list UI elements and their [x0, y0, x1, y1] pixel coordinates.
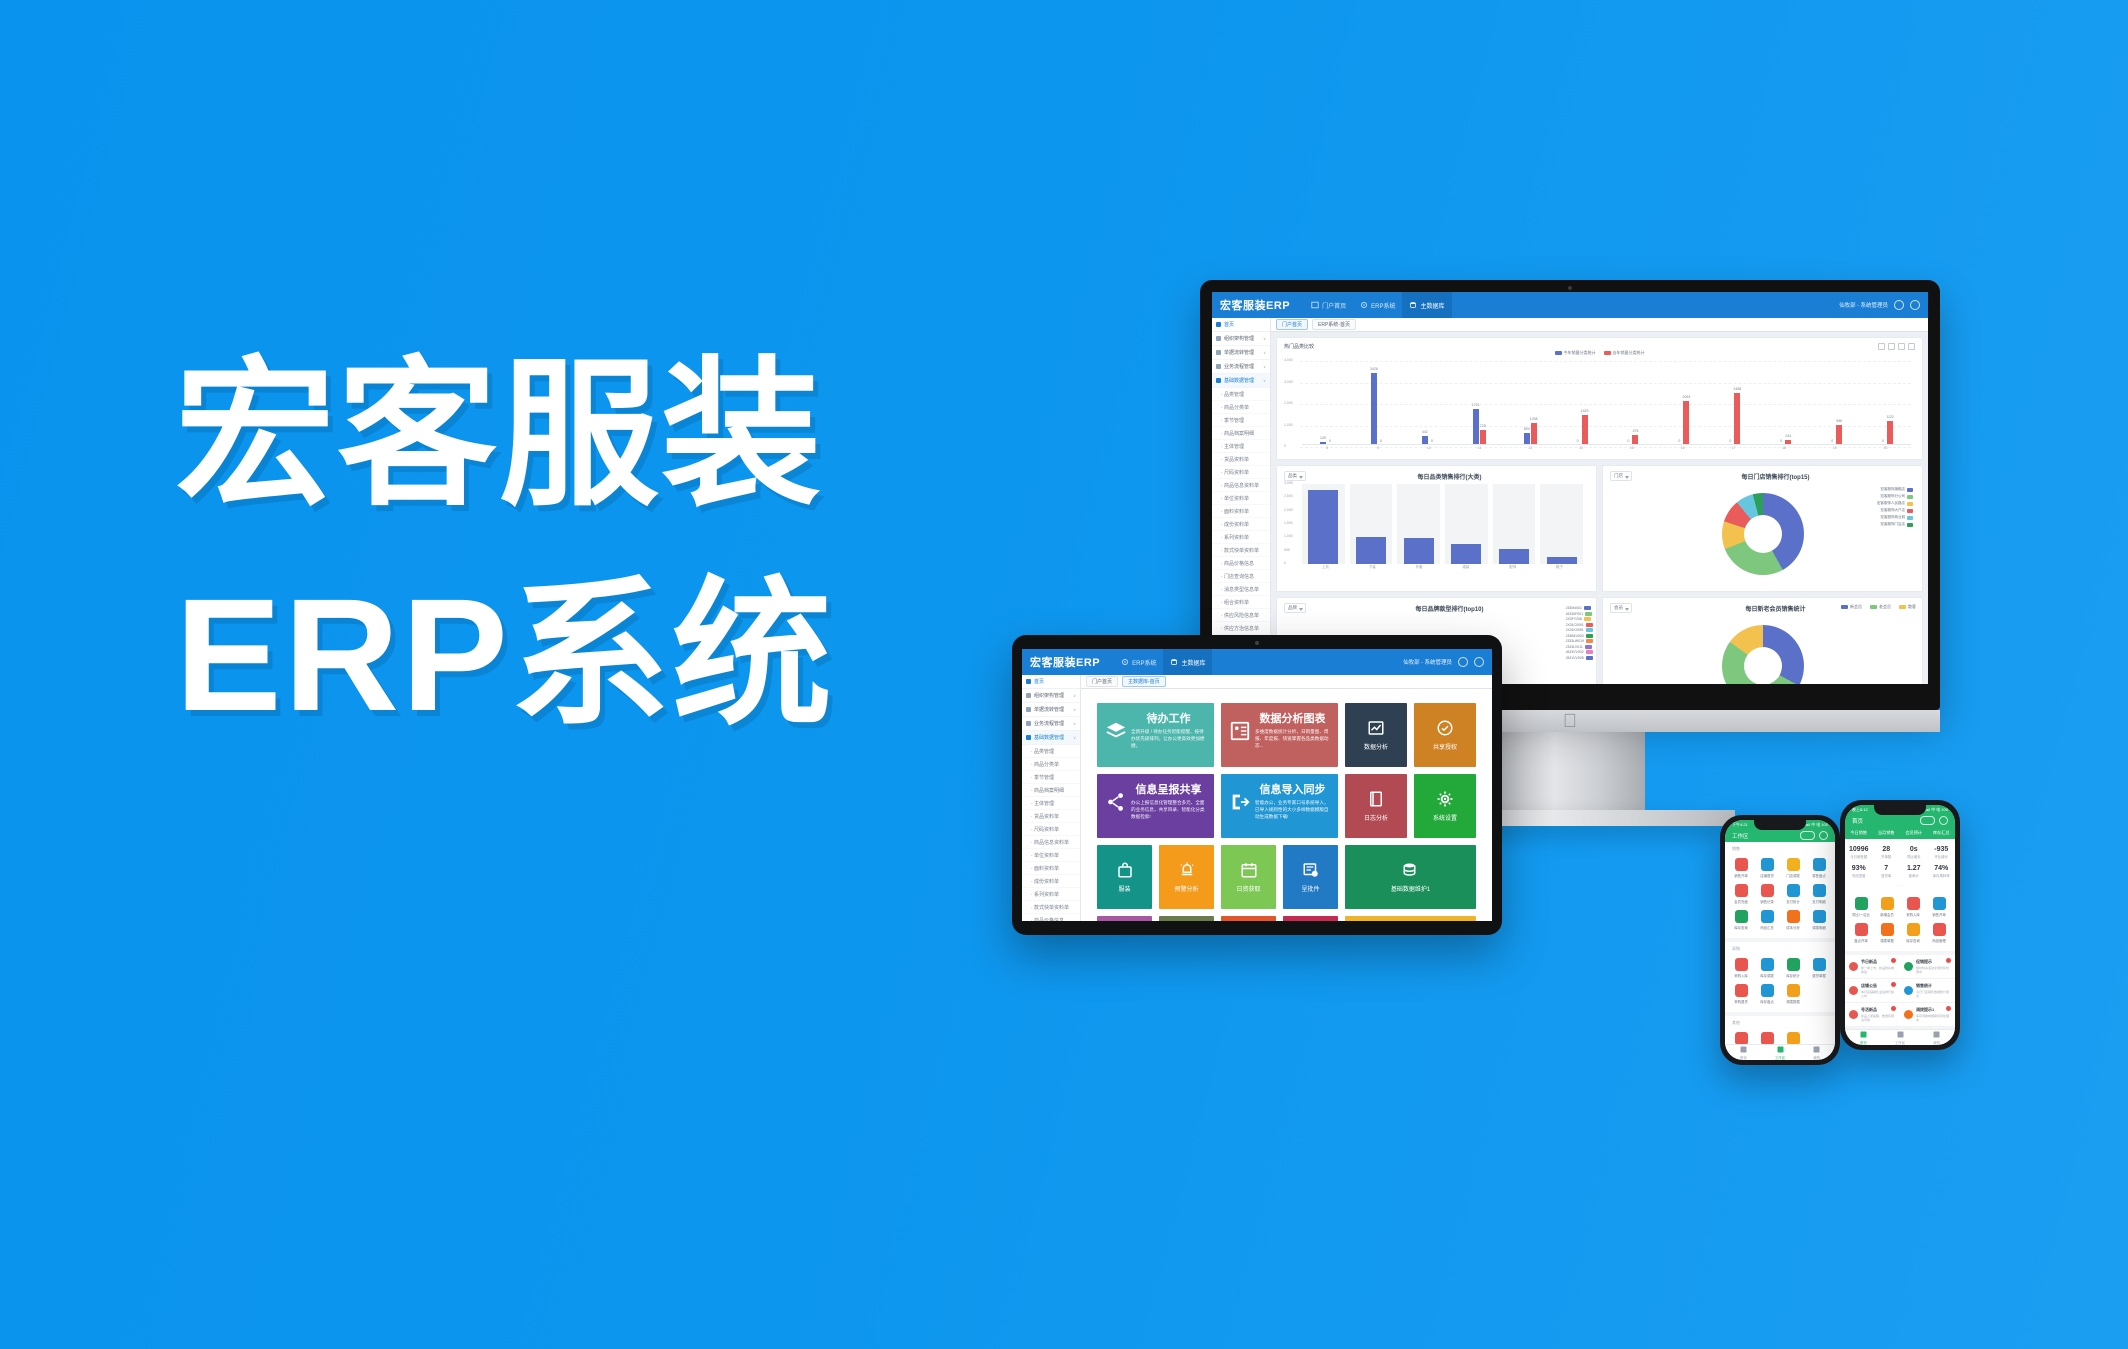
tile-title: 共享授权 [1433, 742, 1457, 751]
bar-slot-11: 1721728 [1455, 361, 1504, 445]
section-grid: 销售开单店铺退货门店调拨零售盘点会员充值销售记录支付统计支付明细库存查询商品汇总… [1728, 855, 1832, 933]
gear-icon [1360, 301, 1368, 309]
tablet-sidebar-group-basedata[interactable]: 基础数据管理 ∨ [1022, 731, 1080, 745]
sidebar-item-10[interactable]: · 成份资料单 [1022, 875, 1080, 888]
return-icon [1813, 958, 1826, 971]
sidebar-item-2[interactable]: · 季节管理 [1022, 771, 1080, 784]
tile-row-right-2: 日志分析系统设置 [1345, 774, 1476, 838]
phone-left-body[interactable]: 销售销售开单店铺退货门店调拨零售盘点会员充值销售记录支付统计支付明细库存查询商品… [1725, 842, 1835, 1044]
sidebar-item-list[interactable]: · 品类管理· 商品分类单· 季节管理· 商品档案明细· 主体管理· 货品资料单… [1212, 388, 1270, 674]
desktop-sidebar[interactable]: 首页 组织架构管理 ∨ 单据流转管理 ∨ [1212, 318, 1271, 684]
tabbar-工作区[interactable]: 工作区 [1882, 1030, 1919, 1045]
tablet-sidebar-group-org[interactable]: 组织架构管理 ∨ [1022, 689, 1080, 703]
notice-item-调拨提示1[interactable]: 调拨提示1库存调拨单据审核待处理中 [1900, 1003, 1955, 1027]
coin-icon [1813, 884, 1826, 897]
book-icon [1787, 1032, 1800, 1044]
x-axis: 上衣下装外套裙装配饰鞋子 [1302, 564, 1583, 573]
brand-legend-label-9: J531VV005 [1566, 656, 1584, 660]
tablet-sidebar[interactable]: 首页 组织架构管理 ∨ 单据流转管理 ∨ [1022, 675, 1081, 921]
tile-基础数据维护[interactable]: 基础数据维护 [1221, 916, 1276, 921]
shortcut-同比/一店比[interactable]: 同比/一店比 [1848, 894, 1874, 920]
sidebar-item-11[interactable]: · 系列资料单 [1212, 531, 1270, 544]
unread-badge [1891, 982, 1896, 987]
tile-信息呈报共享[interactable]: 信息呈报共享办公上报信息化管理整合多元、全面的业务信息，共享目录、智能化分类数据… [1097, 774, 1214, 838]
bar-slot-16: 02093 [1658, 361, 1707, 445]
user-add-icon [1881, 897, 1894, 910]
bar-value-label: 1038 [1530, 417, 1538, 421]
app-item-收支入账[interactable]: 收支入账 [1780, 1029, 1806, 1044]
brand-legend-swatch-0 [1584, 606, 1591, 610]
sidebar-item-4[interactable]: · 主体管理 [1022, 797, 1080, 810]
phone-right-header: 首页 [1845, 814, 1955, 827]
more-icon[interactable] [1800, 831, 1815, 840]
chip-库存汇总[interactable]: 库存汇总 [1928, 827, 1956, 839]
tile-row-big-2: 信息呈报共享办公上报信息化管理整合多元、全面的业务信息，共享目录、智能化分类数据… [1097, 774, 1338, 838]
sidebar-item-15[interactable]: · 消息类型信息单 [1212, 583, 1270, 596]
bar-series: 1290342604420172172855910380142904750209… [1302, 361, 1911, 445]
sidebar-item-13[interactable]: · 商品价格信息 [1212, 557, 1270, 570]
tablet-tab-masterdata[interactable]: 主数据库-首页 [1122, 676, 1166, 687]
phone-right-chips[interactable]: 今日销售当月销售会员预计库存汇总 [1845, 827, 1955, 839]
xtick-13: 13 [1556, 445, 1607, 454]
wallet-icon [1787, 884, 1800, 897]
brand-legend-label-3: JX31C0091 [1566, 623, 1584, 627]
sidebar-item-5[interactable]: · 货品资料单 [1022, 810, 1080, 823]
notice-item-节日新品[interactable]: 节日新品新一季上市，新品抢先看体验 [1845, 955, 1900, 979]
sidebar-item-10[interactable]: · 成份资料单 [1212, 518, 1270, 531]
phone-right-tabbar[interactable]: 首页工作区我的 [1845, 1029, 1955, 1045]
tile-系统设置[interactable]: 系统设置 [1414, 774, 1476, 838]
shortcut-label: 库存查询 [1906, 938, 1920, 943]
phone-right-body[interactable]: 10996今日销售额28开单数0s同比增长-935环比增长93%完成进度7退货单… [1845, 839, 1955, 1029]
店铺公告-icon [1849, 986, 1858, 995]
brand-legend-label-8: J633VV002 [1566, 650, 1584, 654]
bar-toggle-icon[interactable] [1888, 343, 1895, 350]
tile-column-left: 待办工作全新升级 / 待办任务智能提醒、按待办优先级排列，让办公更高效更加便捷。… [1097, 703, 1338, 921]
nav-portal-home[interactable]: 门户首页 [1304, 292, 1353, 318]
tile-共享授权[interactable]: 共享授权 [1414, 703, 1476, 767]
bar-value-label: 559 [1524, 427, 1530, 431]
tablet-nav-erp[interactable]: ERP系统 [1114, 649, 1163, 675]
bar-去年销量分类统计-11: 728 [1480, 430, 1486, 445]
tablet-sidebar-home[interactable]: 首页 [1022, 675, 1080, 689]
tile-title: 日资获取 [1236, 884, 1260, 893]
chip-今日销售[interactable]: 今日销售 [1845, 827, 1873, 839]
member-donut-chart [1722, 625, 1804, 685]
tablet-sidebar-group-doc[interactable]: 单据流转管理 ∨ [1022, 703, 1080, 717]
tablet-app-brand: 宏客服装ERP [1030, 654, 1100, 670]
sidebar-item-8[interactable]: · 单位资料单 [1022, 849, 1080, 862]
refresh-icon[interactable] [1898, 343, 1905, 350]
doc-icon [1026, 707, 1031, 712]
unread-badge [1946, 958, 1951, 963]
receipt-icon [1735, 858, 1748, 871]
shortcut-调拨单据[interactable]: 调拨单据 [1874, 920, 1900, 946]
销售统计-icon [1904, 986, 1913, 995]
app-item-调拨明细[interactable]: 调拨明细 [1806, 907, 1832, 933]
minus-icon [1735, 984, 1748, 997]
shortcut-采购入库[interactable]: 采购入库 [1900, 894, 1926, 920]
app-item-店铺退货[interactable]: 店铺退货 [1754, 855, 1780, 881]
tabbar-label: 首页 [1860, 1040, 1867, 1045]
tile-desc: 全新升级 / 待办任务智能提醒、按待办优先级排列，让办公更高效更加便捷。 [1131, 729, 1206, 750]
sidebar-item-1[interactable]: · 商品分类单 [1212, 401, 1270, 414]
legend-item-0: 宏客服饰旗舰店 [1877, 487, 1913, 492]
tablet-content: 门户首页 主数据库-首页 待办工作全新升级 / 待办任务智能提醒、按待办优先级排… [1081, 675, 1492, 921]
tabbar-我的[interactable]: 我的 [1918, 1030, 1955, 1045]
bar-value-label: 129 [1320, 436, 1326, 440]
kpi-label: 完成进度 [1845, 873, 1873, 878]
compare-icon [1855, 897, 1868, 910]
app-label: 库存统计 [1786, 973, 1800, 978]
sidebar-item-home[interactable]: 首页 [1212, 318, 1270, 332]
tile-待办工作[interactable]: 待办工作全新升级 / 待办任务智能提醒、按待办优先级排列，让办公更高效更加便捷。 [1097, 703, 1214, 767]
app-item-销售开单[interactable]: 销售开单 [1728, 855, 1754, 881]
kpi-grid: 10996今日销售额28开单数0s同比增长-935环比增长93%完成进度7退货单… [1845, 839, 1955, 883]
app-item-库存盘点[interactable]: 库存盘点 [1754, 981, 1780, 1007]
sidebar-item-0[interactable]: · 品类管理 [1022, 745, 1080, 758]
close-icon[interactable] [1819, 831, 1828, 840]
list-icon [1761, 884, 1774, 897]
sidebar-item-14[interactable]: · 门店查询信息 [1212, 570, 1270, 583]
unread-badge [1891, 1006, 1896, 1011]
brand-legend-item-1: J6330F001 [1566, 612, 1593, 616]
sidebar-group-flow-label: 业务流程管理 [1224, 363, 1254, 370]
ytick-1000: 1,000 [1284, 423, 1293, 427]
bar-value-label: 0 [1577, 439, 1579, 443]
kpi-label: 库存周转率 [1928, 873, 1956, 878]
sidebar-item-7[interactable]: · 商品信息资料单 [1212, 479, 1270, 492]
shortcut-库存查询[interactable]: 库存查询 [1900, 920, 1926, 946]
brand-legend-swatch-4 [1586, 628, 1593, 632]
app-label: 调拨数据 [1786, 999, 1800, 1004]
tabbar-label: 首页 [1740, 1055, 1747, 1060]
sidebar-item-17[interactable]: · 供应风险信息单 [1212, 609, 1270, 622]
tablet-topbar-right: 仙牧部 - 系统管理员 [1403, 657, 1484, 667]
legend-swatch-2 [1899, 605, 1906, 609]
power-icon[interactable] [1910, 300, 1920, 310]
tablet-nav-erp-label: ERP系统 [1132, 658, 1156, 667]
status-indicators: ..all 中 电 100 [1924, 807, 1948, 813]
user-avatar-icon[interactable] [1458, 657, 1468, 667]
app-label: 销售开单 [1734, 873, 1748, 878]
swap-icon [1761, 958, 1774, 971]
banner-background: 宏客服装 ERP系统 宏客服装ERP [0, 0, 2128, 1349]
shortcut-新增会员[interactable]: 新增会员 [1874, 894, 1900, 920]
app-label: 调拨明细 [1812, 925, 1826, 930]
legend-swatch-5 [1907, 523, 1913, 527]
shortcut-盘点开单[interactable]: 盘点开单 [1848, 920, 1874, 946]
app-label: 销售记录 [1760, 899, 1774, 904]
sidebar-group-flow[interactable]: 业务流程管理 ∨ [1212, 360, 1270, 374]
bar-去年销量分类统计-17: 2488 [1734, 393, 1740, 445]
flow-icon [1216, 364, 1221, 369]
bar-value-label: 0 [1628, 439, 1630, 443]
app-item-支付明细[interactable]: 支付明细 [1806, 881, 1832, 907]
sidebar-group-org[interactable]: 组织架构管理 ∨ [1212, 332, 1270, 346]
kpi-label: 退货单 [1873, 873, 1901, 878]
tile-基础数据维护3[interactable]: 基础数据维护3 [1283, 916, 1338, 921]
more-icon[interactable] [1920, 816, 1935, 825]
app-item-商品汇总[interactable]: 商品汇总 [1754, 907, 1780, 933]
bar-裙装 [1451, 544, 1481, 564]
sidebar-item-6[interactable]: · 尺码资料单 [1022, 823, 1080, 836]
xtick-17: 17 [1708, 445, 1759, 454]
chevron-down-icon: ∨ [1263, 378, 1266, 383]
app-item-库存调拨[interactable]: 库存调拨 [1754, 955, 1780, 981]
chevron-down-icon: ∨ [1073, 735, 1076, 740]
notice-item-促销提示[interactable]: 促销提示限时秒杀活动全场折扣优惠中 [1900, 955, 1955, 979]
swap-icon [1881, 923, 1894, 936]
chart2-title: 每日品类销售排行(大类) [1310, 472, 1589, 481]
xtick-11: 11 [1454, 445, 1505, 454]
bar-下装 [1356, 537, 1386, 564]
tablet-tabbar[interactable]: 门户首页 主数据库-首页 [1081, 675, 1492, 689]
tile-基础数据维护1[interactable]: 基础数据维护1 [1345, 845, 1476, 909]
gear-icon [1121, 658, 1129, 666]
member-legend: 新会员老会员散客 [1841, 604, 1916, 610]
ytick-4000: 4,000 [1284, 358, 1293, 362]
kpi-开单数: 28开单数 [1873, 843, 1901, 862]
sidebar-item-2[interactable]: · 季节管理 [1212, 414, 1270, 427]
tab-erp-home[interactable]: ERP系统-首页 [1312, 319, 1356, 330]
legend-item-1: 宏客服饰分公司 [1877, 494, 1913, 499]
sidebar-item-1[interactable]: · 商品分类单 [1022, 758, 1080, 771]
card-icon [1735, 884, 1748, 897]
nav-master-data-label: 主数据库 [1420, 301, 1444, 310]
shortcut-商品管理[interactable]: 商品管理 [1926, 920, 1952, 946]
brand-legend-item-8: J633VV002 [1566, 650, 1593, 654]
tabbar-label: 我的 [1813, 1055, 1820, 1060]
phone-left-header-actions[interactable] [1800, 831, 1828, 840]
brand-legend-item-7: J333LV011 [1566, 645, 1593, 649]
ytick-0: 0 [1284, 444, 1286, 448]
app-item-资金流水[interactable]: 资金流水 [1754, 1029, 1780, 1044]
shortcut-label: 销售开单 [1932, 912, 1946, 917]
zoom-icon[interactable] [1878, 343, 1885, 350]
sidebar-group-basedata[interactable]: 基础数据管理 ∨ [1212, 374, 1270, 388]
app-item-会员充值[interactable]: 会员充值 [1728, 881, 1754, 907]
notice-desc: 本月店铺销售业绩排行榜公布 [1861, 990, 1896, 998]
chart1-toolbar[interactable] [1878, 343, 1915, 350]
tabbar-工作区[interactable]: 工作区 [1762, 1045, 1799, 1060]
sidebar-item-6[interactable]: · 尺码资料单 [1212, 466, 1270, 479]
ytick-3000: 3,000 [1284, 481, 1293, 485]
app-item-盘点商品[interactable]: 盘点商品 [1728, 1029, 1754, 1044]
app-item-门店调拨[interactable]: 门店调拨 [1780, 855, 1806, 881]
kpi-value: 0s [1900, 846, 1928, 853]
notice-item-店铺公告[interactable]: 店铺公告本月店铺销售业绩排行榜公布 [1845, 979, 1900, 1003]
tile-row-big-1: 待办工作全新升级 / 待办任务智能提醒、按待办优先级排列，让办公更高效更加便捷。… [1097, 703, 1338, 767]
chevron-down-icon: ∨ [1263, 336, 1266, 341]
app-item-采购入库[interactable]: 采购入库 [1728, 955, 1754, 981]
chart2-category-select[interactable]: 品类 [1284, 471, 1306, 481]
tablet-tab-portal[interactable]: 门户首页 [1086, 676, 1118, 687]
bar-value-label: 0 [1380, 439, 1382, 443]
col-配饰 [1493, 484, 1536, 564]
号活新品-icon [1849, 1010, 1858, 1019]
sidebar-item-5[interactable]: · 货品资料单 [1212, 453, 1270, 466]
bar-value-label: 0 [1780, 439, 1782, 443]
download-icon[interactable] [1908, 343, 1915, 350]
user-avatar-icon[interactable] [1894, 300, 1904, 310]
bar-今年销量分类统计-11: 1721 [1473, 409, 1479, 445]
store-donut-wrap: 宏客服饰旗舰店宏客服饰分公司宏客服饰人民路店宏客服饰大户店宏客服饰商业城宏客服饰… [1610, 481, 1915, 586]
sidebar-item-9[interactable]: · 面料资料单 [1022, 862, 1080, 875]
check-icon [1761, 984, 1774, 997]
legend-label-2: 散客 [1908, 604, 1916, 609]
brand-legend-swatch-5 [1586, 634, 1593, 638]
device-mockup-group: 宏客服装ERP 门户首页 [1020, 280, 2060, 980]
tile-日志分析[interactable]: 日志分析 [1345, 774, 1407, 838]
app-label: 采购入库 [1734, 973, 1748, 978]
tile-column-right: 数据分析共享授权 日志分析系统设置 基础数据维护1 — [1345, 703, 1476, 921]
book-icon [1367, 790, 1385, 808]
sidebar-item-12[interactable]: · 款式快单资料单 [1212, 544, 1270, 557]
sidebar-item-16[interactable]: · 组合资料单 [1212, 596, 1270, 609]
tabbar-我的[interactable]: 我的 [1798, 1045, 1835, 1060]
sidebar-item-9[interactable]: · 面料资料单 [1212, 505, 1270, 518]
tablet-sidebar-group-flow[interactable]: 业务流程管理 ∨ [1022, 717, 1080, 731]
phone-right-header-actions[interactable] [1920, 816, 1948, 825]
nav-master-data[interactable]: 主数据库 [1402, 292, 1451, 318]
phone-left-header: 工作区 [1725, 829, 1835, 842]
notice-item-销售统计[interactable]: 销售统计今日门店销售数据统计报表 [1900, 979, 1955, 1003]
category-columns [1302, 484, 1583, 564]
sidebar-item-18[interactable]: · 供应方治信息单 [1212, 622, 1270, 635]
sidebar-item-8[interactable]: · 单位资料单 [1212, 492, 1270, 505]
ipad-device: 宏客服装ERP ERP系统 [1012, 635, 1502, 935]
app-item-支付统计[interactable]: 支付统计 [1780, 881, 1806, 907]
xtick-16: 16 [1657, 445, 1708, 454]
chart4-brand-select[interactable]: 品牌 [1284, 603, 1306, 613]
tablet-sidebar-item-list[interactable]: · 品类管理· 商品分类单· 季节管理· 商品档案明细· 主体管理· 货品资料单… [1022, 745, 1080, 921]
kpi-环比增长: -935环比增长 [1928, 843, 1956, 862]
legend-swatch-0 [1841, 605, 1848, 609]
app-item-销售记录[interactable]: 销售记录 [1754, 881, 1780, 907]
box-icon [1907, 923, 1920, 936]
brand-legend-label-2: JX3FY206 [1566, 617, 1582, 621]
app-item-退货单据[interactable]: 退货单据 [1806, 955, 1832, 981]
tablet-nav-master-data[interactable]: 主数据库 [1163, 649, 1212, 675]
tile-title: 预警分析 [1174, 884, 1198, 893]
tile-基础数据维护2[interactable]: 基础数据维护2 [1097, 916, 1152, 921]
app-item-库存查询[interactable]: 库存查询 [1728, 907, 1754, 933]
money-icon [1761, 1032, 1774, 1044]
app-item-零售盘点[interactable]: 零售盘点 [1806, 855, 1832, 881]
ytick-500: 500 [1284, 548, 1290, 552]
bar-去年销量分类统计-12: 1038 [1531, 423, 1537, 445]
bar-value-label: 1429 [1581, 409, 1589, 413]
tile-blank[interactable]: — [1345, 916, 1476, 921]
tile-row-small: 服装预警分析日资获取呈批件 [1097, 845, 1338, 909]
tile-信息导入同步[interactable]: 信息导入同步智能办公，业务专家口号系统导入，已导入规则性的大小多样数据模版自动生… [1221, 774, 1338, 838]
app-label: 零售盘点 [1812, 873, 1826, 878]
legend-item-2: 宏客服饰人民路店 [1877, 501, 1913, 506]
sidebar-item-13[interactable]: · 商品价格信息 [1022, 914, 1080, 921]
bar-鞋子 [1547, 557, 1577, 564]
window-icon [1311, 301, 1319, 309]
chart3-store-select[interactable]: 门店 [1610, 471, 1632, 481]
chip-当月销售[interactable]: 当月销售 [1873, 827, 1901, 839]
chip-会员预计[interactable]: 会员预计 [1900, 827, 1928, 839]
legend-label-3: 宏客服饰大户店 [1881, 508, 1906, 513]
sidebar-item-0[interactable]: · 品类管理 [1212, 388, 1270, 401]
tile-row-maintenance: 基础数据维护2基础数据维护32基础数据维护基础数据维护3 [1097, 916, 1338, 921]
bar-slot-9: 34260 [1353, 361, 1402, 445]
tabbar-首页[interactable]: 首页 [1845, 1030, 1882, 1045]
tile-数据分析[interactable]: 数据分析 [1345, 703, 1407, 767]
节日新品-icon [1849, 962, 1858, 971]
kpi-value: 93% [1845, 865, 1873, 872]
tablet-group-flow-label: 业务流程管理 [1034, 720, 1064, 727]
tablet-group-basedata-label: 基础数据管理 [1034, 734, 1064, 741]
legend-label-0: 新会员 [1850, 604, 1862, 609]
basedata-icon [1026, 735, 1031, 740]
tile-数据分析图表[interactable]: 数据分析图表多维度数据统计分析，日销量图、周报、年度报、快速掌握各品类数据动态.… [1221, 703, 1338, 767]
tile-呈批件[interactable]: 呈批件 [1283, 845, 1338, 909]
sidebar-item-3[interactable]: · 商品档案明细 [1022, 784, 1080, 797]
desktop-dashboard-scroll[interactable]: 热门品类比较 [1271, 332, 1928, 684]
legend-swatch-3 [1907, 509, 1913, 513]
legend-item-0: 新会员 [1841, 604, 1862, 610]
tile-预警分析[interactable]: 预警分析 [1159, 845, 1214, 909]
notice-desc: 库存调拨单据审核待处理中 [1916, 1014, 1951, 1022]
sidebar-group-doc[interactable]: 单据流转管理 ∨ [1212, 346, 1270, 360]
app-label: 库存盘点 [1760, 999, 1774, 1004]
phone-right-title: 首页 [1852, 817, 1863, 825]
chart-card-store-rank: 门店 每日门店销售排行(top15) 宏客服饰旗舰店宏客服饰分公司宏客服饰人民路… [1602, 465, 1923, 592]
chart5-member-select[interactable]: 会员 [1610, 603, 1632, 613]
member-donut-wrap [1610, 613, 1915, 684]
notice-desc: 限时秒杀活动全场折扣优惠中 [1916, 966, 1951, 974]
tile-日资获取[interactable]: 日资获取 [1221, 845, 1276, 909]
notice-desc: 新一季上市，新品抢先看体验 [1861, 966, 1896, 974]
tile-基础数据维护32[interactable]: 基础数据维护32 [1159, 916, 1214, 921]
nav-erp-system[interactable]: ERP系统 [1353, 292, 1402, 318]
x-axis: 8910111213151617181920 [1302, 444, 1911, 454]
tablet-erp-app: 宏客服装ERP ERP系统 [1022, 649, 1492, 921]
phone-left-tabbar[interactable]: 首页工作区我的 [1725, 1044, 1835, 1060]
sidebar-item-3[interactable]: · 商品档案明细 [1212, 427, 1270, 440]
power-icon[interactable] [1474, 657, 1484, 667]
bar-slot-10: 4420 [1404, 361, 1453, 445]
desktop-tabbar[interactable]: 门户首页 ERP系统-首页 [1271, 318, 1928, 332]
app-item-采购退货[interactable]: 采购退货 [1728, 981, 1754, 1007]
close-icon[interactable] [1939, 816, 1948, 825]
shortcut-销售开单[interactable]: 销售开单 [1926, 894, 1952, 920]
notice-item-号活新品[interactable]: 号活新品新品上架提醒，数量有限请尽快 [1845, 1003, 1900, 1027]
app-item-调拨数据[interactable]: 调拨数据 [1780, 981, 1806, 1007]
calendar-icon [1240, 861, 1258, 879]
sidebar-item-4[interactable]: · 主体管理 [1212, 440, 1270, 453]
tabbar-label: 工作区 [1895, 1040, 1905, 1045]
sidebar-item-7[interactable]: · 商品信息资料单 [1022, 836, 1080, 849]
tile-服装[interactable]: 服装 [1097, 845, 1152, 909]
tab-portal-home[interactable]: 门户首页 [1276, 319, 1308, 330]
sidebar-item-11[interactable]: · 系列资料单 [1022, 888, 1080, 901]
app-item-成本分析[interactable]: 成本分析 [1780, 907, 1806, 933]
kpi-label: 同比增长 [1900, 854, 1928, 859]
legend-label-1: 宏客服饰分公司 [1881, 494, 1906, 499]
imac-camera-icon [1568, 286, 1572, 290]
tabbar-首页[interactable]: 首页 [1725, 1045, 1762, 1060]
user-icon [1932, 1030, 1941, 1039]
sidebar-item-12[interactable]: · 款式快单资料单 [1022, 901, 1080, 914]
chart2-header: 品类 每日品类销售排行(大类) [1284, 471, 1589, 481]
app-item-库存统计[interactable]: 库存统计 [1780, 955, 1806, 981]
col-外套 [1397, 484, 1440, 564]
